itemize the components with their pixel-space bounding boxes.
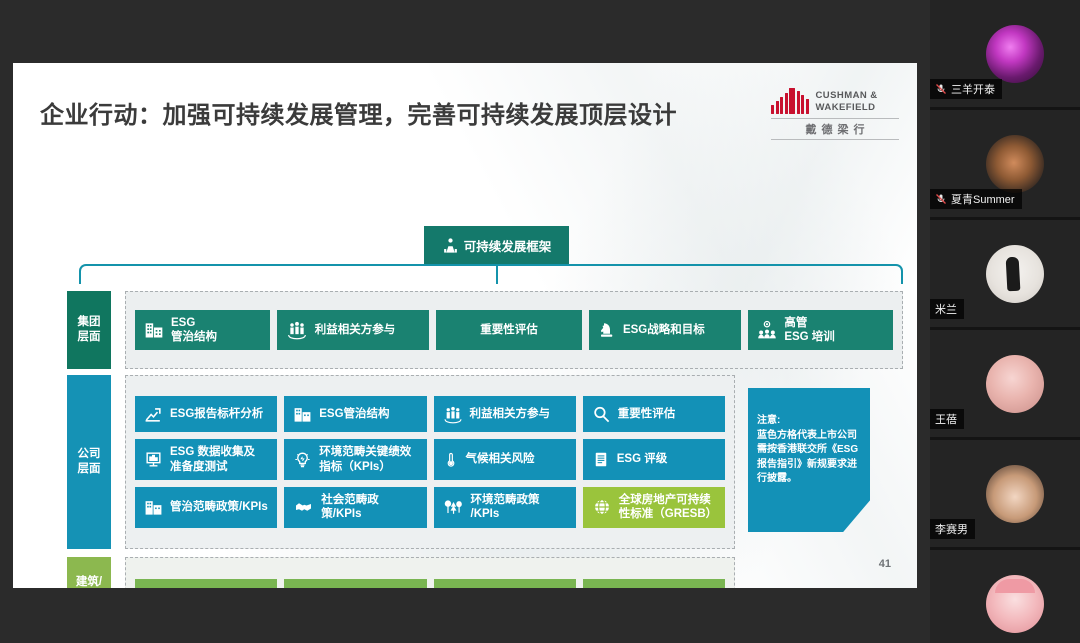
presentation-slide: 企业行动：加强可持续发展管理，完善可持续发展顶层设计 CUSHMAN & WAK… <box>13 63 917 588</box>
card-materiality-assessment-company[interactable]: 重要性评估 <box>583 396 725 432</box>
participant-name-badge: 夏青Summer <box>930 189 1022 209</box>
people-group-icon <box>442 237 459 254</box>
participant-name-badge: 王蓓 <box>930 409 964 429</box>
card-esg-report-benchmarking[interactable]: ESG报告标杆分析 <box>135 396 277 432</box>
logo-building-bars-icon <box>771 88 809 114</box>
card-social-policy-kpis[interactable]: 社会范畴政策/KPIs <box>284 487 426 528</box>
card-esg-governance-structure-company[interactable]: ESG管治结构 <box>284 396 426 432</box>
card-label: 环境范畴关键绩效指标（KPIs） <box>319 445 411 474</box>
card-stakeholder-engagement-company[interactable]: 利益相关方参与 <box>434 396 576 432</box>
card-environment-policy-kpis[interactable]: 环境范畴政策/KPIs <box>434 487 576 528</box>
card-label: 社会范畴政策/KPIs <box>321 493 417 522</box>
office-building-icon <box>144 320 164 340</box>
participant-name: 三羊开泰 <box>951 81 995 97</box>
chess-knight-icon <box>598 320 616 340</box>
card-label: 环境范畴政策/KPIs <box>471 493 540 522</box>
card-label: ESG报告标杆分析 <box>170 407 263 421</box>
card-executive-esg-training[interactable]: 高管ESG 培训 <box>748 310 893 351</box>
benchmark-chart-icon <box>144 405 163 424</box>
buildings-icon <box>144 587 166 588</box>
participant-name: 李赛男 <box>935 521 968 537</box>
participant-tile[interactable] <box>930 550 1080 643</box>
note-box: 注意: 蓝色方格代表上市公司需按香港联交所《ESG报告指引》新规要求进行披露。 <box>748 388 870 532</box>
slide-page-number: 41 <box>879 558 891 570</box>
stakeholders-icon <box>286 320 308 340</box>
meeting-screen-share-window: 企业行动：加强可持续发展管理，完善可持续发展顶层设计 CUSHMAN & WAK… <box>0 0 1080 643</box>
page-title: 企业行动：加强可持续发展管理，完善可持续发展顶层设计 <box>40 95 677 130</box>
globe-icon <box>592 497 612 517</box>
office-building-icon <box>144 498 163 517</box>
card-building-energy-consulting[interactable]: 建筑能效咨询 <box>434 579 576 588</box>
card-label: ESG 评级 <box>617 452 667 466</box>
handshake-icon <box>293 498 314 516</box>
level-label-company: 公司层面 <box>67 375 111 549</box>
connector-bracket <box>79 264 903 284</box>
avatar <box>986 355 1044 413</box>
data-chart-icon <box>144 450 163 469</box>
card-esg-strategy-targets[interactable]: ESG战略和目标 <box>589 310 741 351</box>
card-healthy-green-building-certification[interactable]: 健康/绿色建筑认证 <box>583 579 725 588</box>
card-governance-policy-kpis[interactable]: 管治范畴政策/KPIs <box>135 487 277 528</box>
note-title: 注意: <box>757 414 861 429</box>
card-label: 重要性评估 <box>618 407 676 421</box>
card-stakeholder-engagement[interactable]: 利益相关方参与 <box>277 310 429 351</box>
lightbulb-icon <box>293 450 312 469</box>
card-label: 全球房地产可持续性标准（GRESB） <box>619 493 716 522</box>
card-climate-related-risk[interactable]: 气候相关风险 <box>434 439 576 480</box>
participant-tile[interactable]: 李赛男 <box>930 440 1080 547</box>
level-row-building: 建筑/资产层面 <box>67 557 735 588</box>
participant-name-badge: 三羊开泰 <box>930 79 1002 99</box>
logo-text-chinese: 戴德梁行 <box>771 118 899 140</box>
level-cards-company: ESG报告标杆分析 ESG管治结构 <box>125 375 735 549</box>
card-label: ESG 数据收集及准备度测试 <box>170 445 255 474</box>
card-label: 利益相关方参与 <box>470 407 551 421</box>
buildings-icon <box>293 587 315 588</box>
buildings-icon <box>592 587 614 588</box>
level-label-building: 建筑/资产层面 <box>67 557 111 588</box>
card-materiality-assessment[interactable]: 重要性评估 <box>436 310 582 351</box>
card-environment-kpis[interactable]: 环境范畴关键绩效指标（KPIs） <box>284 439 426 480</box>
card-esg-governance-structure[interactable]: ESG管治结构 <box>135 310 270 351</box>
mic-muted-icon <box>935 83 947 95</box>
stakeholders-icon <box>443 405 463 424</box>
level-row-company: 公司层面 ESG报告标杆分析 <box>67 375 735 549</box>
participant-name: 王蓓 <box>935 411 957 427</box>
training-people-icon <box>757 320 777 340</box>
framework-head-label: 可持续发展框架 <box>464 236 552 255</box>
logo-text-line1: CUSHMAN & <box>816 90 878 102</box>
card-low-carbon-solutions[interactable]: 低碳项目解决方案 <box>284 579 426 588</box>
avatar <box>986 575 1044 633</box>
participant-name: 米兰 <box>935 301 957 317</box>
card-label: 高管ESG 培训 <box>784 316 834 345</box>
participant-video-strip[interactable]: 三羊开泰 夏青Summer 米兰 王蓓 <box>930 0 1080 643</box>
participant-tile[interactable]: 三羊开泰 <box>930 0 1080 107</box>
participant-name-badge: 李赛男 <box>930 519 975 539</box>
participant-tile[interactable]: 王蓓 <box>930 330 1080 437</box>
note-body: 蓝色方格代表上市公司需按香港联交所《ESG报告指引》新规要求进行披露。 <box>757 430 858 485</box>
card-label: 管治范畴政策/KPIs <box>170 500 268 514</box>
avatar <box>986 25 1044 83</box>
card-technical-due-diligence[interactable]: 技术尽职调查 <box>135 579 277 588</box>
card-label: ESG管治结构 <box>319 407 389 421</box>
participant-tile[interactable]: 夏青Summer <box>930 110 1080 217</box>
level-cards-building: 技术尽职调查 低碳项目 <box>125 557 735 588</box>
magnifier-icon <box>592 405 611 424</box>
shared-content-area: 企业行动：加强可持续发展管理，完善可持续发展顶层设计 CUSHMAN & WAK… <box>0 0 930 643</box>
card-label: ESG管治结构 <box>171 316 217 345</box>
card-label: ESG战略和目标 <box>623 323 705 337</box>
document-icon <box>592 450 610 469</box>
mic-muted-icon <box>935 193 947 205</box>
cushman-wakefield-logo: CUSHMAN & WAKEFIELD 戴德梁行 <box>771 88 899 140</box>
card-esg-data-collection[interactable]: ESG 数据收集及准备度测试 <box>135 439 277 480</box>
level-cards-group: ESG管治结构 利益相关方参与 重要性评估 <box>125 291 903 369</box>
participant-name-badge: 米兰 <box>930 299 964 319</box>
framework-head-box: 可持续发展框架 <box>424 226 569 264</box>
buildings-icon <box>443 587 465 588</box>
logo-text-line2: WAKEFIELD <box>816 102 878 114</box>
trees-icon <box>443 498 464 517</box>
level-label-group: 集团层面 <box>67 291 111 369</box>
participant-tile[interactable]: 米兰 <box>930 220 1080 327</box>
level-row-group: 集团层面 ESG管治结构 <box>67 291 903 369</box>
office-building-icon <box>293 405 312 424</box>
card-label: 利益相关方参与 <box>315 323 396 337</box>
thermometer-icon <box>443 450 459 469</box>
card-label: 气候相关风险 <box>466 452 535 466</box>
participant-name: 夏青Summer <box>951 191 1015 207</box>
card-gresb-standard[interactable]: 全球房地产可持续性标准（GRESB） <box>583 487 725 528</box>
avatar <box>986 465 1044 523</box>
avatar <box>986 135 1044 193</box>
card-esg-rating[interactable]: ESG 评级 <box>583 439 725 480</box>
card-label: 重要性评估 <box>480 323 538 337</box>
avatar <box>986 245 1044 303</box>
